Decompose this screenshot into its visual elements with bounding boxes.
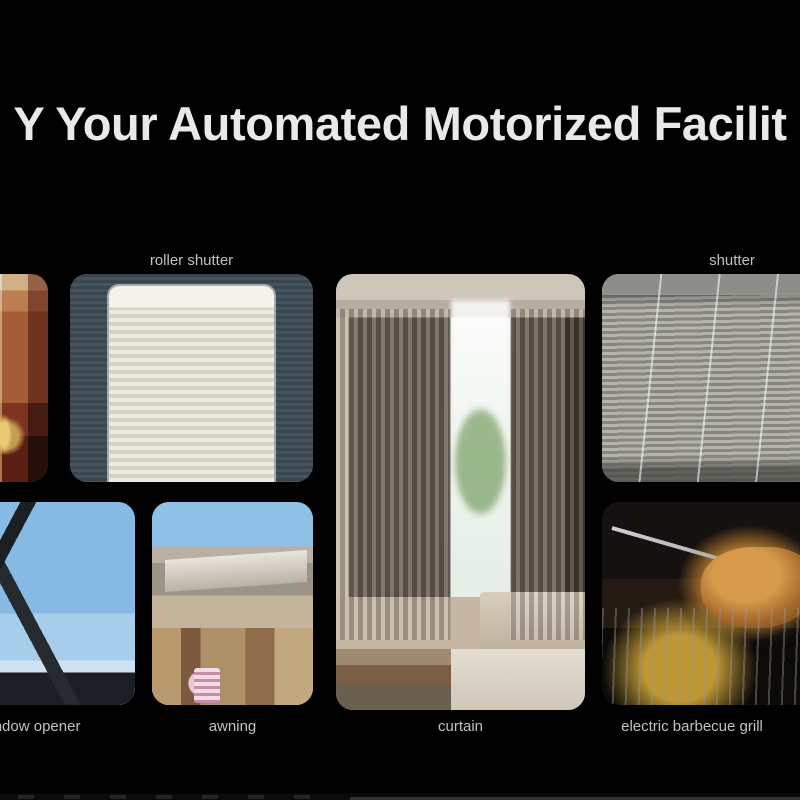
photo-curtain (336, 274, 585, 710)
gallery-card-awning[interactable] (152, 502, 313, 705)
photo-lamp-interior (0, 274, 48, 482)
photo-shutter (602, 274, 800, 482)
gallery-card-curtain[interactable] (336, 274, 585, 710)
gallery-caption-window-opener: window opener (0, 718, 135, 736)
gallery-caption-awning: awning (152, 718, 313, 736)
rotisserie-chicken (701, 547, 800, 628)
gallery-caption-roller-shutter: roller shutter (70, 252, 313, 270)
page-root: Y Your Automated Motorized Facilit rolle… (0, 0, 800, 800)
photo-awning (152, 502, 313, 705)
photo-window-opener (0, 502, 135, 705)
awning-terrace-furniture (152, 628, 313, 705)
gallery-card-electric-barbecue-grill[interactable] (602, 502, 800, 705)
image-gallery: roller shutter curtain shutter (0, 240, 800, 740)
gallery-caption-curtain: curtain (336, 718, 585, 736)
gallery-card-shutter[interactable] (602, 274, 800, 482)
gallery-card-roller-shutter[interactable] (70, 274, 313, 482)
page-title-band: Y Your Automated Motorized Facilit (0, 78, 800, 170)
window-greenery (453, 405, 508, 518)
next-section-dots (18, 795, 318, 799)
next-section-sliver (0, 786, 800, 800)
gallery-caption-shutter: shutter (602, 252, 800, 270)
photo-roller-shutter (70, 274, 313, 482)
photo-electric-barbecue-grill (602, 502, 800, 705)
gallery-caption-electric-barbecue-grill: electric barbecue grill (592, 718, 792, 736)
page-title: Y Your Automated Motorized Facilit (13, 78, 786, 170)
rug (451, 649, 585, 710)
window-glow (451, 300, 511, 614)
gallery-card-window-opener[interactable] (0, 502, 135, 705)
window-panes (123, 411, 259, 482)
gallery-card-lamp-interior[interactable] (0, 274, 48, 482)
